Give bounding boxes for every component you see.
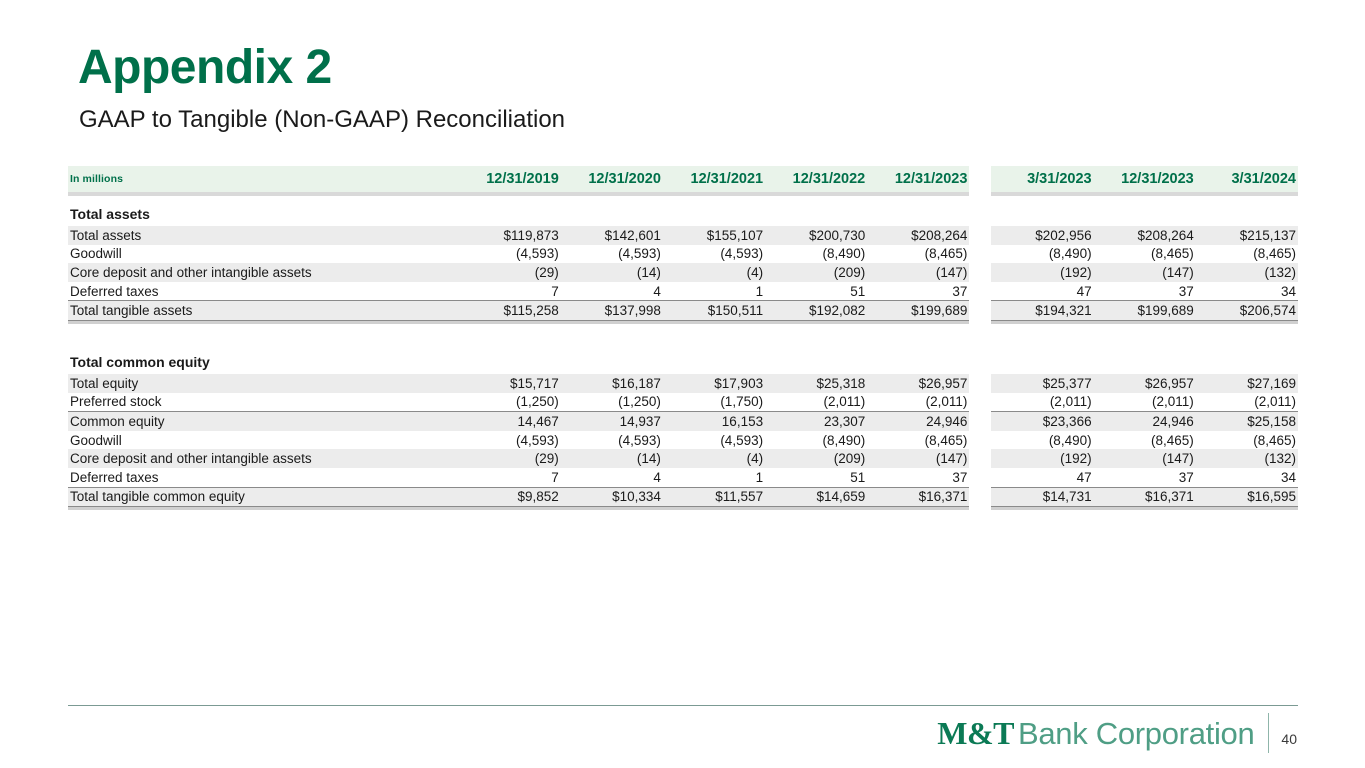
cell-g1-0: (4,593) <box>459 245 561 264</box>
cell-g2-0: (8,490) <box>991 431 1093 450</box>
cell-g1-4: (8,465) <box>867 245 969 264</box>
footer-divider-rule <box>68 705 1298 706</box>
cell-g2-2: $27,169 <box>1196 374 1298 393</box>
logo-secondary-text: Bank Corporation <box>1018 716 1254 752</box>
row-label: Total equity <box>68 374 459 393</box>
cell-g2-0: $25,377 <box>991 374 1093 393</box>
page-number: 40 <box>1281 731 1297 753</box>
reconciliation-table-wrapper: In millions 12/31/2019 12/31/2020 12/31/… <box>68 166 1298 510</box>
cell-g1-4: 37 <box>867 282 969 301</box>
table-row: Preferred stock(1,250)(1,250)(1,750)(2,0… <box>68 393 1298 412</box>
slide-canvas: Appendix 2 GAAP to Tangible (Non-GAAP) R… <box>0 0 1365 768</box>
cell-group-divider <box>969 282 991 301</box>
cell-g1-3: 51 <box>765 468 867 487</box>
cell-g1-0: (29) <box>459 263 561 282</box>
reconciliation-table: In millions 12/31/2019 12/31/2020 12/31/… <box>68 166 1298 510</box>
cell-g2-0: $202,956 <box>991 226 1093 245</box>
cell-g1-4: (8,465) <box>867 431 969 450</box>
cell-g1-1: (4,593) <box>561 431 663 450</box>
units-label: In millions <box>68 166 459 192</box>
cell-g1-4: (147) <box>867 263 969 282</box>
cell-g1-3: (209) <box>765 449 867 468</box>
cell-g1-1: (14) <box>561 449 663 468</box>
cell-g1-2: 16,153 <box>663 412 765 431</box>
cell-group-divider <box>969 245 991 264</box>
cell-g2-0: (2,011) <box>991 393 1093 412</box>
cell-g1-1: $10,334 <box>561 487 663 507</box>
cell-g1-2: (4,593) <box>663 245 765 264</box>
cell-group-divider <box>969 226 991 245</box>
cell-g1-1: 4 <box>561 282 663 301</box>
row-label: Goodwill <box>68 431 459 450</box>
section-heading: Total assets <box>68 196 1298 226</box>
cell-g1-4: 24,946 <box>867 412 969 431</box>
cell-g2-2: (2,011) <box>1196 393 1298 412</box>
cell-g1-2: $155,107 <box>663 226 765 245</box>
column-group-divider <box>969 166 991 192</box>
cell-g2-0: (192) <box>991 263 1093 282</box>
cell-g2-1: (147) <box>1094 449 1196 468</box>
cell-g1-2: $11,557 <box>663 487 765 507</box>
cell-g2-1: 24,946 <box>1094 412 1196 431</box>
cell-g2-1: (2,011) <box>1094 393 1196 412</box>
cell-g2-2: (132) <box>1196 449 1298 468</box>
cell-g2-0: $14,731 <box>991 487 1093 507</box>
cell-g2-1: (147) <box>1094 263 1196 282</box>
cell-g1-1: $137,998 <box>561 301 663 321</box>
section-heading-row: Total assets <box>68 196 1298 226</box>
cell-g1-2: (4) <box>663 263 765 282</box>
cell-g1-1: (14) <box>561 263 663 282</box>
row-label: Core deposit and other intangible assets <box>68 449 459 468</box>
cell-g1-1: $142,601 <box>561 226 663 245</box>
cell-group-divider <box>969 374 991 393</box>
cell-group-divider <box>969 468 991 487</box>
cell-g2-2: $16,595 <box>1196 487 1298 507</box>
cell-group-divider <box>969 487 991 507</box>
cell-g2-1: $199,689 <box>1094 301 1196 321</box>
cell-g1-4: $16,371 <box>867 487 969 507</box>
cell-g1-4: (147) <box>867 449 969 468</box>
cell-group-divider <box>969 449 991 468</box>
cell-g1-2: $17,903 <box>663 374 765 393</box>
table-header-row: In millions 12/31/2019 12/31/2020 12/31/… <box>68 166 1298 192</box>
cell-g1-2: (4,593) <box>663 431 765 450</box>
cell-g2-1: 37 <box>1094 282 1196 301</box>
cell-g2-0: 47 <box>991 468 1093 487</box>
table-row: Total tangible assets$115,258$137,998$15… <box>68 301 1298 321</box>
column-header-g1-3: 12/31/2022 <box>765 166 867 192</box>
footer-vertical-divider <box>1268 713 1269 753</box>
cell-g1-2: (4) <box>663 449 765 468</box>
table-row: Core deposit and other intangible assets… <box>68 263 1298 282</box>
row-label: Total assets <box>68 226 459 245</box>
row-label: Total tangible common equity <box>68 487 459 507</box>
table-row: Deferred taxes7415137473734 <box>68 282 1298 301</box>
cell-g1-1: 4 <box>561 468 663 487</box>
cell-g1-1: (4,593) <box>561 245 663 264</box>
cell-g1-0: 7 <box>459 282 561 301</box>
section-spacer <box>68 324 1298 344</box>
cell-g1-0: 14,467 <box>459 412 561 431</box>
table-body: Total assetsTotal assets$119,873$142,601… <box>68 196 1298 510</box>
cell-g2-2: (132) <box>1196 263 1298 282</box>
cell-g1-1: $16,187 <box>561 374 663 393</box>
cell-g1-0: (1,250) <box>459 393 561 412</box>
row-label: Deferred taxes <box>68 468 459 487</box>
table-header: In millions 12/31/2019 12/31/2020 12/31/… <box>68 166 1298 196</box>
cell-g2-0: (192) <box>991 449 1093 468</box>
cell-g1-4: 37 <box>867 468 969 487</box>
row-label: Goodwill <box>68 245 459 264</box>
row-label: Preferred stock <box>68 393 459 412</box>
cell-group-divider <box>969 393 991 412</box>
logo-primary-text: M&T <box>937 715 1014 752</box>
table-row: Total assets$119,873$142,601$155,107$200… <box>68 226 1298 245</box>
row-label: Total tangible assets <box>68 301 459 321</box>
cell-g1-3: (209) <box>765 263 867 282</box>
footer: M&T Bank Corporation 40 <box>937 713 1297 753</box>
cell-g1-3: (2,011) <box>765 393 867 412</box>
column-header-g1-4: 12/31/2023 <box>867 166 969 192</box>
cell-g1-4: $199,689 <box>867 301 969 321</box>
cell-g1-2: 1 <box>663 282 765 301</box>
cell-group-divider <box>969 412 991 431</box>
column-header-g1-2: 12/31/2021 <box>663 166 765 192</box>
cell-g2-2: (8,465) <box>1196 245 1298 264</box>
cell-g2-1: $208,264 <box>1094 226 1196 245</box>
page-subtitle: GAAP to Tangible (Non-GAAP) Reconciliati… <box>79 106 565 135</box>
cell-g1-3: $14,659 <box>765 487 867 507</box>
cell-g1-4: $26,957 <box>867 374 969 393</box>
cell-g2-2: (8,465) <box>1196 431 1298 450</box>
cell-g2-1: $26,957 <box>1094 374 1196 393</box>
row-label: Common equity <box>68 412 459 431</box>
cell-group-divider <box>969 431 991 450</box>
cell-g2-2: $25,158 <box>1196 412 1298 431</box>
cell-g2-2: $206,574 <box>1196 301 1298 321</box>
table-row: Common equity14,46714,93716,15323,30724,… <box>68 412 1298 431</box>
cell-g1-0: 7 <box>459 468 561 487</box>
cell-g2-2: 34 <box>1196 282 1298 301</box>
cell-g2-1: (8,465) <box>1094 245 1196 264</box>
cell-g1-3: $192,082 <box>765 301 867 321</box>
cell-g1-0: $15,717 <box>459 374 561 393</box>
cell-g1-3: (8,490) <box>765 431 867 450</box>
column-header-g1-0: 12/31/2019 <box>459 166 561 192</box>
cell-g1-1: (1,250) <box>561 393 663 412</box>
cell-g1-3: (8,490) <box>765 245 867 264</box>
cell-g1-2: (1,750) <box>663 393 765 412</box>
table-row: Goodwill(4,593)(4,593)(4,593)(8,490)(8,4… <box>68 245 1298 264</box>
cell-g1-4: $208,264 <box>867 226 969 245</box>
table-row: Goodwill(4,593)(4,593)(4,593)(8,490)(8,4… <box>68 431 1298 450</box>
row-label: Core deposit and other intangible assets <box>68 263 459 282</box>
table-row: Total equity$15,717$16,187$17,903$25,318… <box>68 374 1298 393</box>
column-header-g1-1: 12/31/2020 <box>561 166 663 192</box>
cell-g1-2: 1 <box>663 468 765 487</box>
mt-bank-logo: M&T Bank Corporation <box>937 715 1254 752</box>
cell-g1-0: $119,873 <box>459 226 561 245</box>
table-row: Deferred taxes7415137473734 <box>68 468 1298 487</box>
cell-g2-2: $215,137 <box>1196 226 1298 245</box>
cell-g1-4: (2,011) <box>867 393 969 412</box>
cell-g1-3: 23,307 <box>765 412 867 431</box>
cell-g1-3: 51 <box>765 282 867 301</box>
cell-g1-0: (4,593) <box>459 431 561 450</box>
cell-g1-0: (29) <box>459 449 561 468</box>
cell-g2-2: 34 <box>1196 468 1298 487</box>
cell-group-divider <box>969 263 991 282</box>
cell-g2-1: (8,465) <box>1094 431 1196 450</box>
cell-g1-1: 14,937 <box>561 412 663 431</box>
page-title: Appendix 2 <box>78 44 332 92</box>
column-header-g2-2: 3/31/2024 <box>1196 166 1298 192</box>
total-underline <box>68 507 1298 511</box>
table-row: Core deposit and other intangible assets… <box>68 449 1298 468</box>
cell-g1-3: $25,318 <box>765 374 867 393</box>
cell-g2-0: (8,490) <box>991 245 1093 264</box>
section-heading-row: Total common equity <box>68 344 1298 374</box>
cell-g1-0: $9,852 <box>459 487 561 507</box>
row-label: Deferred taxes <box>68 282 459 301</box>
cell-g1-2: $150,511 <box>663 301 765 321</box>
section-heading: Total common equity <box>68 344 1298 374</box>
column-header-g2-0: 3/31/2023 <box>991 166 1093 192</box>
cell-g2-0: $194,321 <box>991 301 1093 321</box>
cell-g2-0: 47 <box>991 282 1093 301</box>
cell-g2-1: $16,371 <box>1094 487 1196 507</box>
table-row: Total tangible common equity$9,852$10,33… <box>68 487 1298 507</box>
cell-g1-0: $115,258 <box>459 301 561 321</box>
cell-g1-3: $200,730 <box>765 226 867 245</box>
cell-g2-1: 37 <box>1094 468 1196 487</box>
cell-group-divider <box>969 301 991 321</box>
column-header-g2-1: 12/31/2023 <box>1094 166 1196 192</box>
cell-g2-0: $23,366 <box>991 412 1093 431</box>
